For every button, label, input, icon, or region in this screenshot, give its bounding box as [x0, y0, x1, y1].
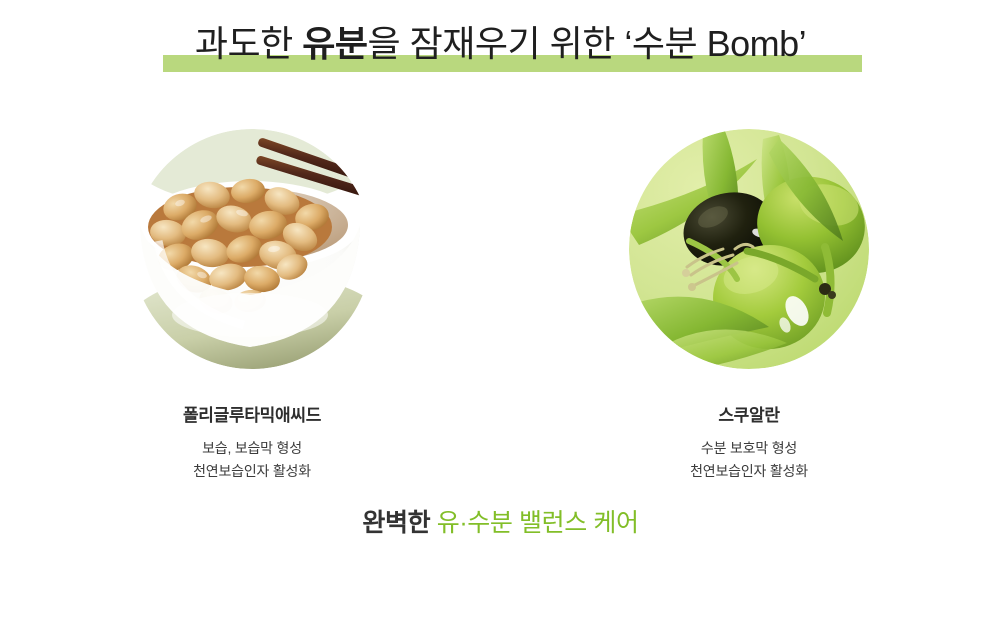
headline-section: 과도한 유분을 잠재우기 위한 ‘수분 Bomb’	[0, 18, 1001, 80]
footer-tagline: 완벽한 유·수분 밸런스 케어	[0, 506, 1001, 540]
ingredient-name-left: 폴리글루타믹애씨드	[82, 405, 422, 427]
headline-part-1: 과도한	[195, 23, 302, 64]
ingredient-desc-right-line1: 수분 보호막 형성	[579, 437, 919, 460]
promo-page: 과도한 유분을 잠재우기 위한 ‘수분 Bomb’	[0, 0, 1001, 617]
ingredient-desc-left-line1: 보습, 보습막 형성	[82, 437, 422, 460]
natto-bowl-photo	[132, 129, 372, 369]
ingredient-card-right: 스쿠알란 수분 보호막 형성 천연보습인자 활성화	[579, 129, 919, 483]
natto-bowl-illustration	[132, 129, 372, 369]
tagline-lead: 완벽한	[362, 509, 436, 537]
headline-part-3: 을 잠재우기 위한 ‘수분 Bomb’	[367, 23, 806, 64]
ingredient-desc-left-line2: 천연보습인자 활성화	[82, 460, 422, 483]
ingredient-desc-left: 보습, 보습막 형성 천연보습인자 활성화	[82, 437, 422, 483]
ingredient-card-left: 폴리글루타믹애씨드 보습, 보습막 형성 천연보습인자 활성화	[82, 129, 422, 483]
ingredient-columns: 폴리글루타믹애씨드 보습, 보습막 형성 천연보습인자 활성화	[0, 129, 1001, 479]
ingredient-desc-right: 수분 보호막 형성 천연보습인자 활성화	[579, 437, 919, 483]
ingredient-name-right: 스쿠알란	[579, 405, 919, 427]
headline-emphasis: 유분	[302, 23, 367, 64]
page-title: 과도한 유분을 잠재우기 위한 ‘수분 Bomb’	[195, 18, 806, 70]
ingredient-desc-right-line2: 천연보습인자 활성화	[579, 460, 919, 483]
olive-branch-illustration	[629, 129, 869, 369]
olive-branch-photo	[629, 129, 869, 369]
tagline-accent: 유·수분 밸런스 케어	[437, 509, 639, 537]
